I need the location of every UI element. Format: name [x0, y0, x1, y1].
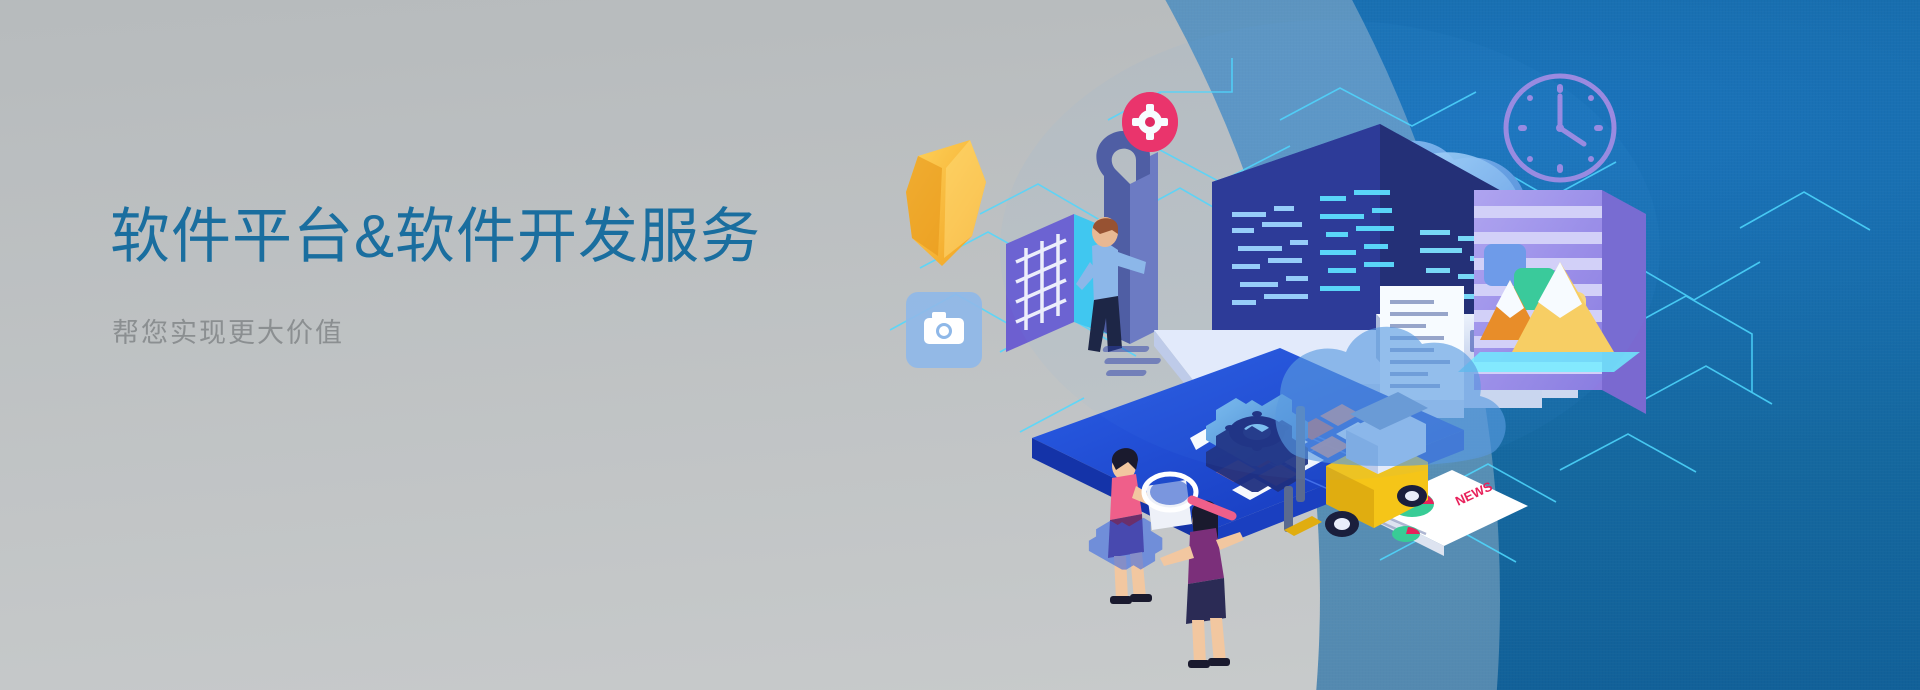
shield-icon	[906, 140, 986, 266]
camera-icon	[906, 292, 982, 368]
banner-copy: 软件平台&软件开发服务 帮您实现更大价值	[110, 200, 870, 350]
illustration-canvas: NEWS	[860, 0, 1920, 690]
gear-small-icon	[1089, 518, 1162, 570]
hero-banner: 软件平台&软件开发服务 帮您实现更大价值	[0, 0, 1920, 690]
hero-illustration: NEWS	[860, 0, 1920, 690]
page-title: 软件平台&软件开发服务	[110, 200, 870, 273]
page-subtitle: 帮您实现更大价值	[112, 311, 870, 350]
